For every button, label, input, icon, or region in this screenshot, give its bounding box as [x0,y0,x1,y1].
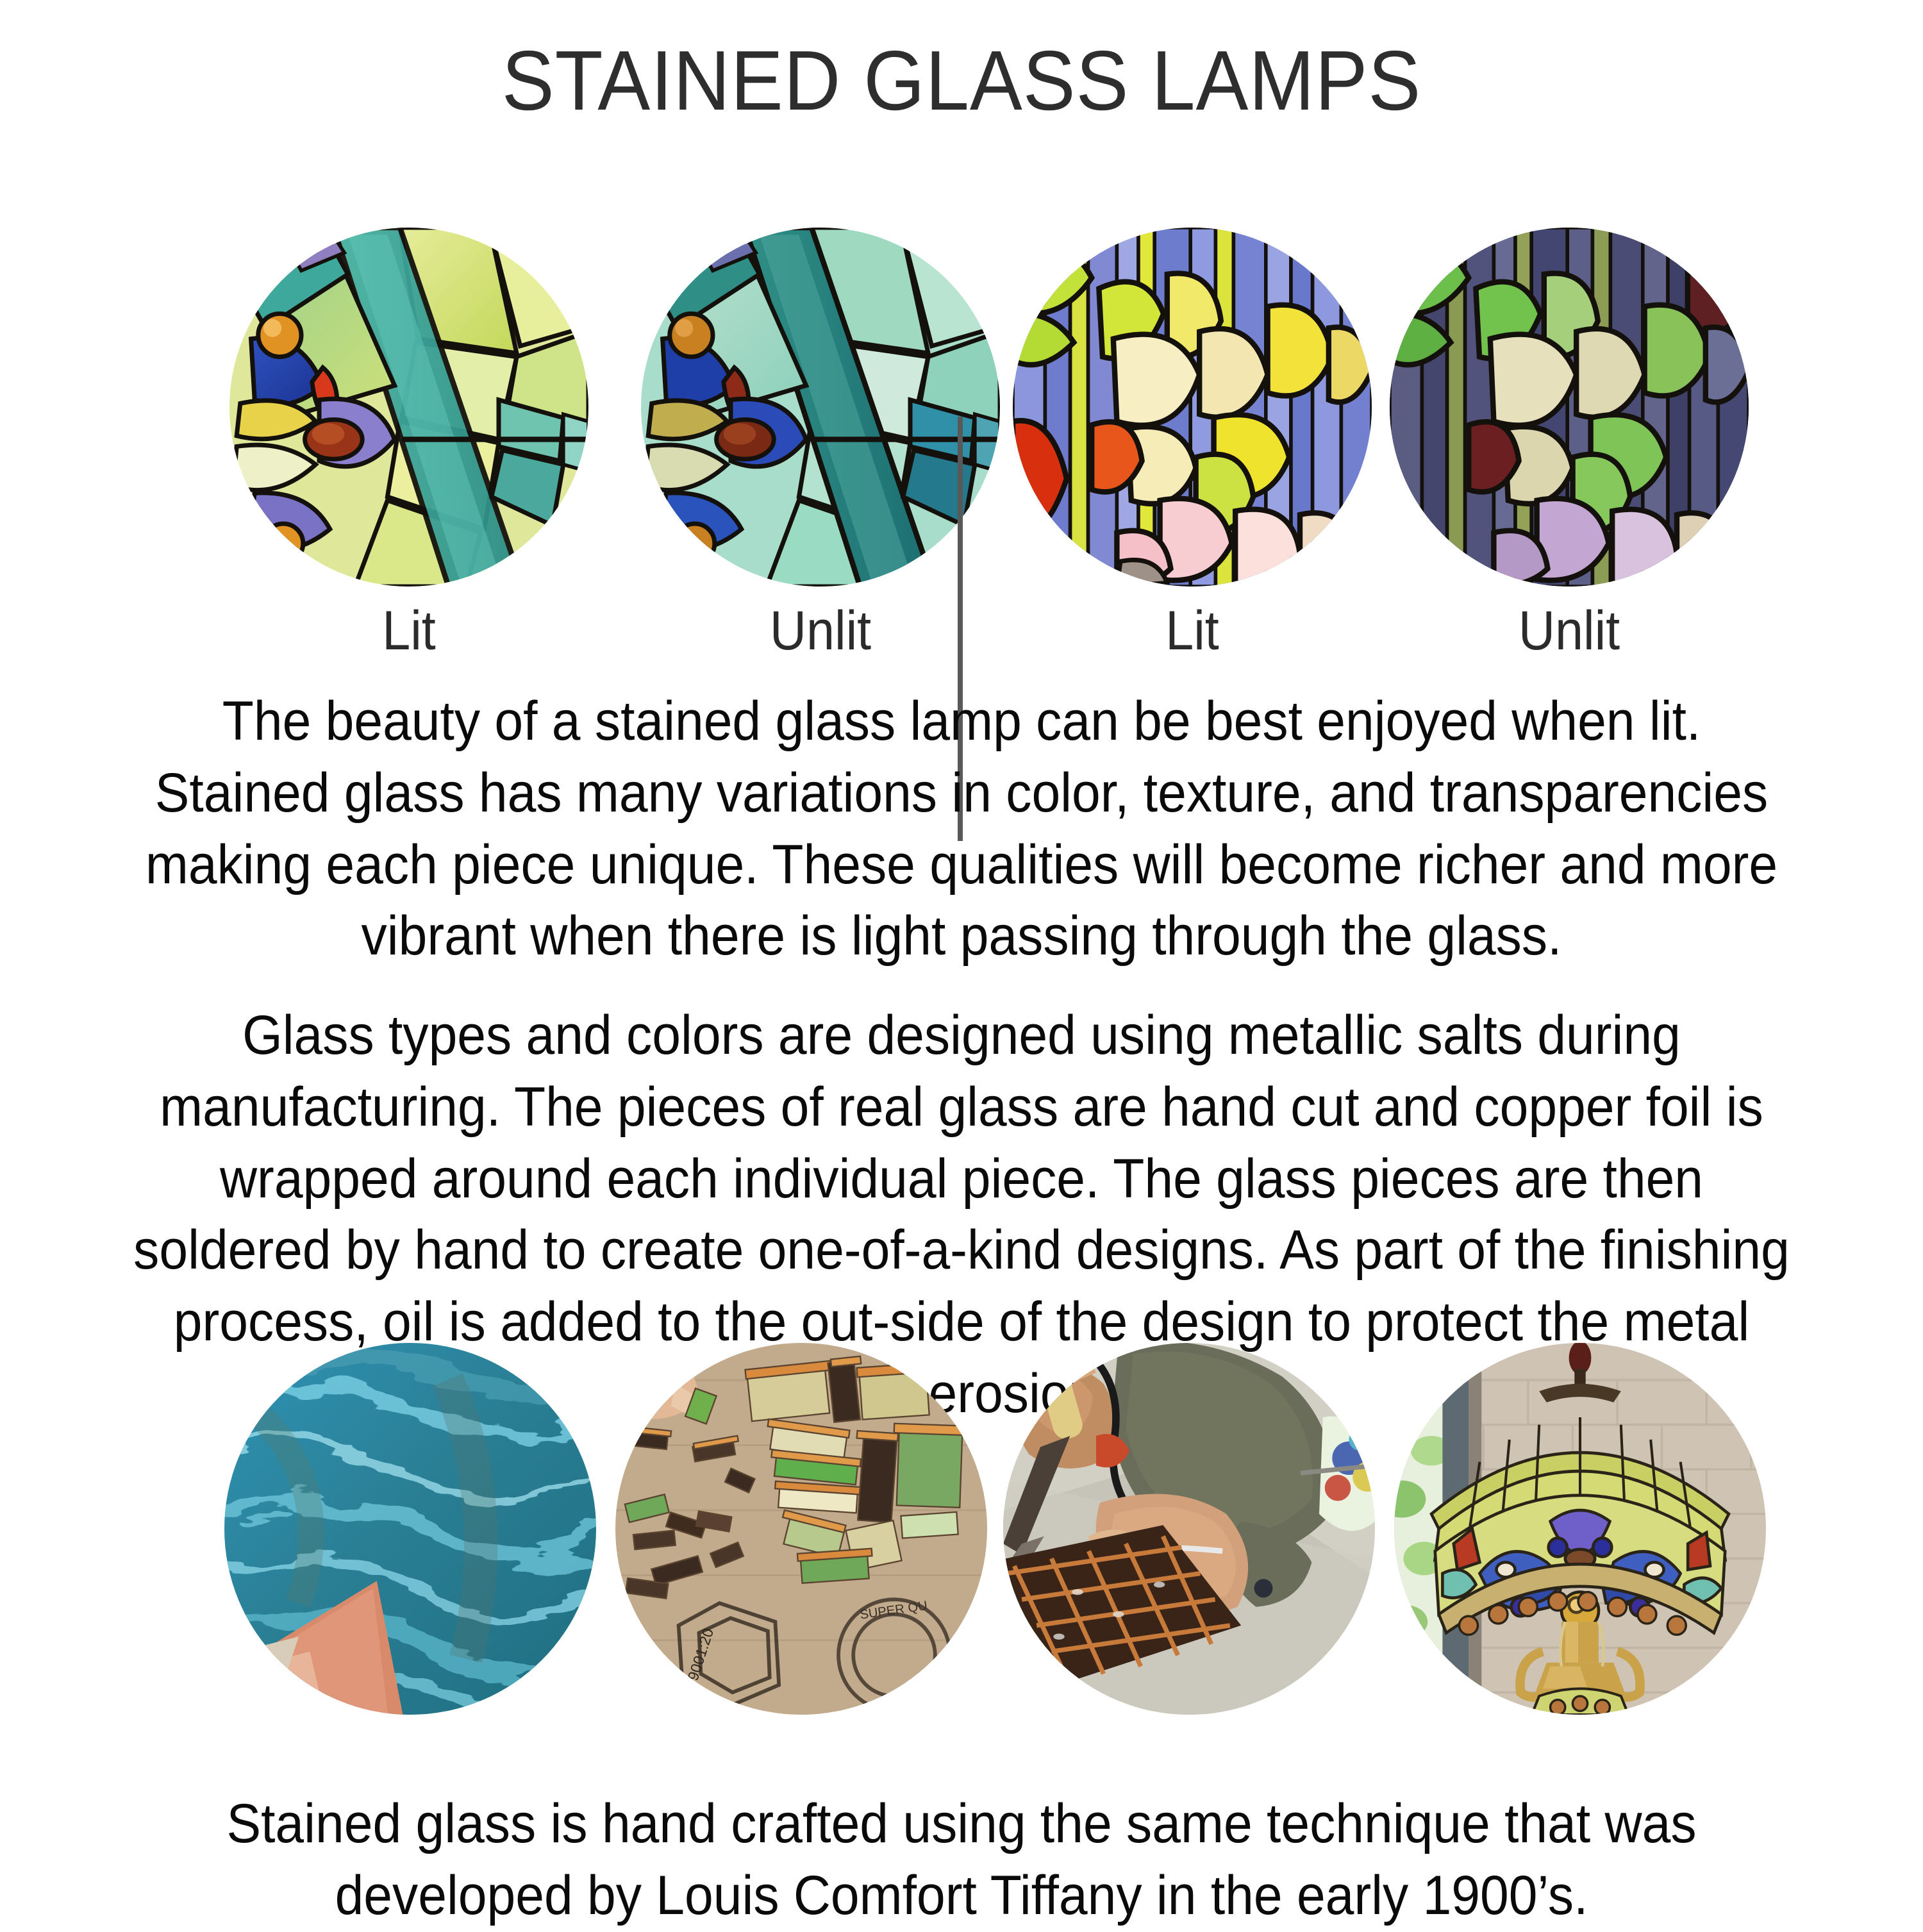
lamp-b-unlit-image [1390,228,1749,587]
page-title: STAINED GLASS LAMPS [67,38,1856,123]
footer-caption: Stained glass is hand crafted using the … [63,1788,1861,1932]
process-row: SUPER QU ISO 9001:20 [0,1343,1923,1715]
comparison-row [0,228,1923,593]
hand-soldering-image [1003,1343,1375,1715]
infographic-page: STAINED GLASS LAMPS [0,0,1923,1923]
comparison-labels: Lit Unlit Lit Unlit [0,599,1923,670]
lamp-a-lit-image [229,228,588,587]
lamp-b-lit-image [1013,228,1372,587]
lamp-a-unlit-image [641,228,1000,587]
raw-glass-sheets-image [224,1343,596,1715]
label-lamp-b-lit: Lit [1027,599,1357,663]
finished-lamp-image [1394,1343,1766,1715]
intro-paragraph: The beauty of a stained glass lamp can b… [63,686,1861,972]
label-lamp-b-unlit: Unlit [1404,599,1734,663]
label-lamp-a-unlit: Unlit [655,599,985,663]
copper-foiled-pieces-image: SUPER QU ISO 9001:20 [615,1343,987,1715]
label-lamp-a-lit: Lit [244,599,574,663]
